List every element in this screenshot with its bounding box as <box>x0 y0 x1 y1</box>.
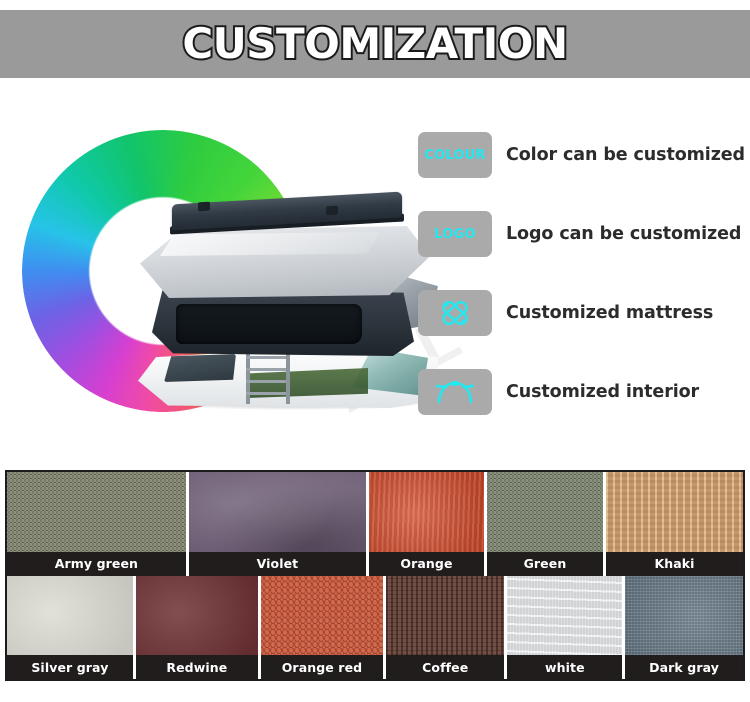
logo-text-icon: LOGO <box>418 211 492 257</box>
feature-label-mattress: Customized mattress <box>506 303 713 323</box>
product-photo-rooftop-tent <box>130 186 450 416</box>
swatch-cell[interactable]: Orange red <box>261 576 386 680</box>
feature-label-interior: Customized interior <box>506 382 699 402</box>
swatch-cell[interactable]: Redwine <box>136 576 261 680</box>
tent-ladder <box>242 350 298 404</box>
swatch-label: Silver gray <box>7 655 133 679</box>
crossed-measuring-tape-icon <box>418 290 492 336</box>
tent-canopy-highlight <box>160 232 390 256</box>
feature-label-logo: Logo can be customized <box>506 224 741 244</box>
swatch-cell[interactable]: Khaki <box>606 472 743 576</box>
tent-arch-icon <box>418 369 492 415</box>
feature-label-color: Color can be customized <box>506 145 745 165</box>
swatch-row: Silver grayRedwineOrange redCoffeewhiteD… <box>7 576 743 680</box>
truck-cab-window <box>164 354 236 382</box>
logo-icon-label: LOGO <box>434 228 475 241</box>
swatch-label: Coffee <box>386 655 504 679</box>
hardshell-latch-icon <box>198 202 210 212</box>
header-banner: CUSTOMIZATION <box>0 10 750 78</box>
swatch-label: Orange <box>369 552 484 576</box>
swatch-label: Violet <box>189 552 366 576</box>
swatch-row: Army greenVioletOrangeGreenKhaki <box>7 472 743 576</box>
tent-mesh-window <box>176 304 362 344</box>
feature-list: COLOUR Color can be customized LOGO Logo… <box>418 132 736 415</box>
swatch-cell[interactable]: Green <box>487 472 606 576</box>
feature-item-mattress: Customized mattress <box>418 290 736 336</box>
middle-section: ALL <box>0 78 750 444</box>
swatch-label: Redwine <box>136 655 258 679</box>
swatch-cell[interactable]: Army green <box>7 472 189 576</box>
swatch-label: Dark gray <box>625 655 743 679</box>
swatch-label: Army green <box>7 552 186 576</box>
hardshell-latch-icon <box>326 206 338 216</box>
colour-icon-label: COLOUR <box>424 149 485 162</box>
swatch-label: Orange red <box>261 655 383 679</box>
feature-item-color: COLOUR Color can be customized <box>418 132 736 178</box>
swatch-cell[interactable]: Violet <box>189 472 369 576</box>
feature-item-logo: LOGO Logo can be customized <box>418 211 736 257</box>
customization-infographic: CUSTOMIZATION ALL <box>0 0 750 702</box>
colour-text-icon: COLOUR <box>418 132 492 178</box>
swatch-cell[interactable]: Coffee <box>386 576 507 680</box>
swatch-label: Green <box>487 552 603 576</box>
swatch-cell[interactable]: Silver gray <box>7 576 136 680</box>
feature-item-interior: Customized interior <box>418 369 736 415</box>
swatch-cell[interactable]: Dark gray <box>625 576 743 680</box>
fabric-color-swatch-grid: Army greenVioletOrangeGreenKhaki Silver … <box>5 470 745 681</box>
swatch-cell[interactable]: Orange <box>369 472 487 576</box>
page-title: CUSTOMIZATION <box>182 23 567 65</box>
swatch-label: Khaki <box>606 552 743 576</box>
swatch-cell[interactable]: white <box>507 576 625 680</box>
swatch-label: white <box>507 655 622 679</box>
